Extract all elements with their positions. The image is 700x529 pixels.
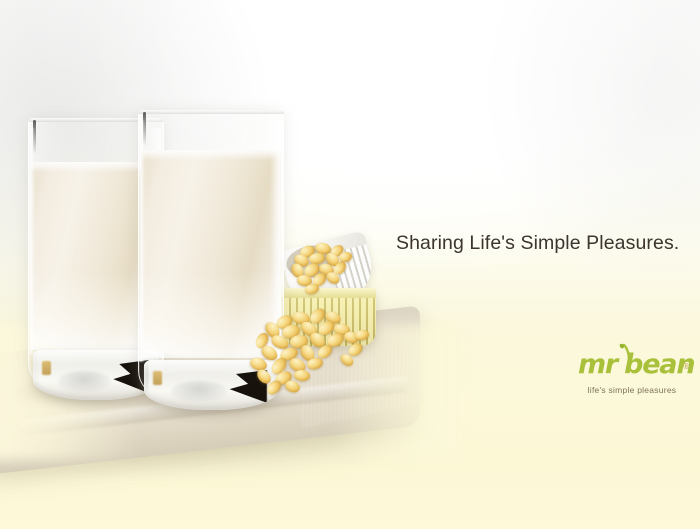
tagline-text: Sharing Life's Simple Pleasures. — [396, 232, 679, 255]
soybean — [293, 369, 310, 382]
registered-trademark-icon: ® — [682, 352, 689, 382]
logo-slogan: life's simple pleasures — [578, 385, 686, 395]
logo-wordmark: mrbean ® — [578, 350, 686, 382]
spilled-soybeans — [258, 240, 388, 400]
soybean — [283, 379, 301, 395]
glass-base-gold-glint — [153, 371, 162, 385]
logo-text-mr: mr — [578, 350, 617, 380]
advertisement-canvas: Sharing Life's Simple Pleasures. mrbean … — [0, 0, 700, 529]
glass-base-reflection — [171, 381, 227, 402]
glass-base-gold-glint — [42, 361, 51, 375]
glass-rim — [138, 110, 284, 114]
soybean — [354, 329, 369, 341]
glass-highlight-left — [140, 120, 145, 362]
background-vignette-right — [480, 0, 700, 300]
sprout-leaf-icon — [618, 341, 640, 361]
glass-base-reflection — [58, 371, 111, 392]
brand-logo[interactable]: mrbean ® life's simple pleasures — [578, 350, 686, 395]
glass-highlight-left — [30, 128, 35, 355]
